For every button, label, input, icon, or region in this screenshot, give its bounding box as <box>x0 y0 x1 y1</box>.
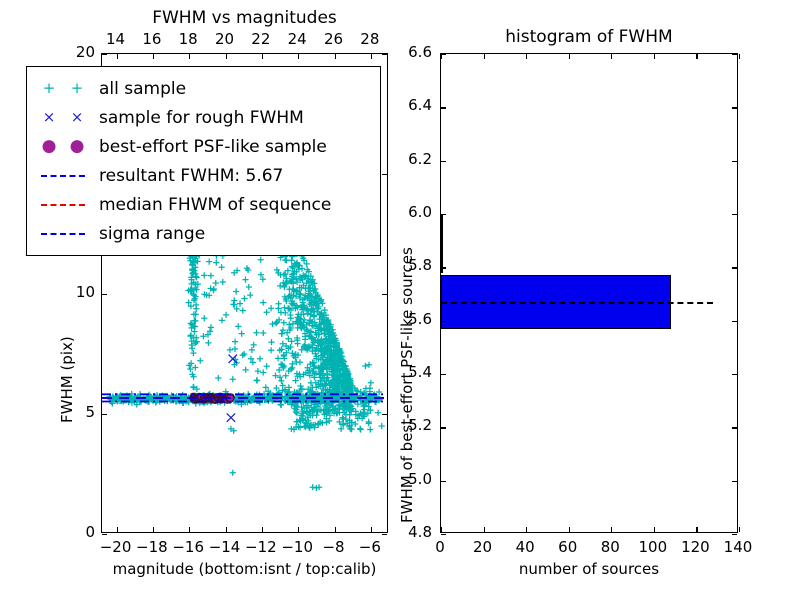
scatter-point-plus <box>268 339 274 345</box>
tick-label: 6.0 <box>388 203 432 221</box>
left-plot-xlabel: magnitude (bottom:isnt / top:calib) <box>101 560 388 578</box>
scatter-point-plus <box>366 362 372 368</box>
scatter-point-plus <box>220 279 226 285</box>
legend-item[interactable]: ++all sample <box>27 74 380 103</box>
x-tick <box>654 54 655 59</box>
y-tick <box>732 321 737 322</box>
tick-label: 100 <box>631 538 675 556</box>
scatter-point-plus <box>205 340 211 346</box>
x-tick <box>569 54 570 59</box>
y-tick <box>102 54 107 55</box>
scatter-point-plus <box>227 347 233 353</box>
legend-label: best-effort PSF-like sample <box>99 137 327 157</box>
dot-marker-icon: ● <box>42 138 57 155</box>
scatter-point-plus <box>191 328 197 334</box>
scatter-point-plus <box>279 331 285 337</box>
scatter-point-plus <box>302 333 308 339</box>
scatter-point-plus <box>367 426 373 432</box>
scatter-point-plus <box>201 315 207 321</box>
y-tick <box>732 214 737 215</box>
tick-label: 140 <box>716 538 760 556</box>
scatter-point-plus <box>233 288 239 294</box>
tick-label: 80 <box>588 538 632 556</box>
legend-marker <box>27 233 99 235</box>
right-plot-title: histogram of FWHM <box>440 27 738 47</box>
x-tick-top <box>298 54 299 59</box>
x-tick <box>335 527 336 532</box>
x-tick <box>569 527 570 532</box>
scatter-point-plus <box>239 331 245 337</box>
scatter-point-plus <box>223 312 229 318</box>
x-tick <box>189 527 190 532</box>
y-tick <box>382 534 387 535</box>
tick-label: 0 <box>53 523 95 541</box>
histogram-axes[interactable] <box>440 53 738 533</box>
tick-label: 120 <box>673 538 717 556</box>
scatter-point-plus <box>288 315 294 321</box>
x-tick <box>696 527 697 532</box>
tick-label: 6.2 <box>388 150 432 168</box>
scatter-point-plus <box>366 420 372 426</box>
x-tick <box>654 527 655 532</box>
tick-label: 20 <box>53 43 95 61</box>
y-tick <box>732 374 737 375</box>
legend-item[interactable]: resultant FWHM: 5.67 <box>27 161 380 190</box>
scatter-point-plus <box>213 259 219 265</box>
dashed-blue-line-icon <box>41 175 85 177</box>
x-tick <box>526 527 527 532</box>
scatter-point-plus <box>268 347 274 353</box>
tick-label: 24 <box>277 30 317 48</box>
scatter-point-plus <box>208 273 214 279</box>
y-tick <box>441 321 446 322</box>
scatter-point-plus <box>297 383 303 389</box>
scatter-point-plus <box>268 305 274 311</box>
scatter-point-plus <box>240 307 246 313</box>
legend-marker <box>27 204 99 206</box>
tick-label: 6.6 <box>388 43 432 61</box>
y-tick <box>441 534 446 535</box>
y-tick <box>382 294 387 295</box>
figure-canvas: FWHM vs magnitudes 1416182022242628 −20−… <box>0 0 800 600</box>
tick-label: 60 <box>546 538 590 556</box>
y-tick <box>382 174 387 175</box>
x-tick <box>696 54 697 59</box>
y-tick <box>732 54 737 55</box>
scatter-point-plus <box>258 257 264 263</box>
tick-label: 18 <box>168 30 208 48</box>
histogram-xlabel: number of sources <box>440 560 738 578</box>
scatter-point-plus <box>243 367 249 373</box>
y-tick <box>441 54 446 55</box>
x-tick <box>739 527 740 532</box>
y-tick <box>441 161 446 162</box>
legend-box[interactable]: ++all sample××sample for rough FWHM●●bes… <box>26 66 381 256</box>
scatter-point-plus <box>208 324 214 330</box>
scatter-point-plus <box>288 257 294 263</box>
scatter-point-plus <box>241 351 247 357</box>
legend-marker: ●● <box>27 138 99 155</box>
legend-label: sample for rough FWHM <box>99 108 304 128</box>
scatter-point-cross <box>227 413 235 421</box>
legend-marker: ×× <box>27 110 99 125</box>
scatter-point-plus <box>206 259 212 265</box>
scatter-point-plus <box>201 272 207 278</box>
tick-label: 6.4 <box>388 96 432 114</box>
left-plot-ylabel: FWHM (pix) <box>58 336 76 423</box>
x-tick-top <box>371 54 372 59</box>
scatter-point-plus <box>281 320 287 326</box>
dot-marker-icon: ● <box>70 138 85 155</box>
x-tick <box>117 527 118 532</box>
y-tick <box>441 427 446 428</box>
x-tick-top <box>189 54 190 59</box>
y-tick <box>732 481 737 482</box>
tick-label: 10 <box>53 283 95 301</box>
scatter-point-plus <box>275 355 281 361</box>
y-tick <box>732 534 737 535</box>
scatter-point-plus <box>230 301 236 307</box>
scatter-point-plus <box>264 309 270 315</box>
cross-marker-icon: × <box>71 110 84 125</box>
scatter-point-plus <box>278 402 284 408</box>
scatter-point-plus <box>264 363 270 369</box>
histogram-bar[interactable] <box>441 214 443 273</box>
x-tick <box>739 54 740 59</box>
legend-marker: ++ <box>27 81 99 96</box>
scatter-point-plus <box>197 358 203 364</box>
dashed-red-line-icon <box>41 204 85 206</box>
tick-label: 20 <box>205 30 245 48</box>
x-tick <box>298 527 299 532</box>
tick-label: 4.8 <box>388 523 432 541</box>
scatter-point-plus <box>276 301 282 307</box>
scatter-point-plus <box>283 373 289 379</box>
scatter-point-plus <box>230 376 236 382</box>
scatter-point-plus <box>260 299 266 305</box>
legend-marker <box>27 175 99 177</box>
scatter-point-plus <box>308 380 314 386</box>
scatter-point-plus <box>379 423 385 429</box>
x-tick <box>153 527 154 532</box>
x-tick <box>484 54 485 59</box>
x-tick <box>441 527 442 532</box>
y-tick <box>732 161 737 162</box>
scatter-point-plus <box>362 363 368 369</box>
scatter-point-plus <box>255 368 261 374</box>
left-plot-title: FWHM vs magnitudes <box>101 8 388 28</box>
legend-label: all sample <box>99 79 186 99</box>
scatter-point-plus <box>254 377 260 383</box>
legend-item[interactable]: ●●best-effort PSF-like sample <box>27 132 380 161</box>
x-tick <box>226 527 227 532</box>
scatter-point-plus <box>322 307 328 313</box>
x-tick-top <box>335 54 336 59</box>
scatter-point-plus <box>241 295 247 301</box>
scatter-point-plus <box>247 292 253 298</box>
dashdot-blue-line-icon <box>41 233 85 235</box>
scatter-point-plus <box>237 301 243 307</box>
y-tick <box>732 427 737 428</box>
x-tick-top <box>262 54 263 59</box>
scatter-point-plus <box>368 380 374 386</box>
scatter-point-plus <box>232 339 238 345</box>
y-tick <box>441 107 446 108</box>
tick-label: 28 <box>350 30 390 48</box>
scatter-point-plus <box>211 286 217 292</box>
scatter-point-plus <box>242 277 248 283</box>
tick-label: 22 <box>241 30 281 48</box>
scatter-point-plus <box>278 378 284 384</box>
scatter-point-plus <box>253 330 259 336</box>
x-tick <box>484 527 485 532</box>
scatter-point-plus <box>190 350 196 356</box>
plus-marker-icon: + <box>71 81 84 96</box>
scatter-point-plus <box>257 356 263 362</box>
y-tick <box>382 54 387 55</box>
cross-marker-icon: × <box>43 110 56 125</box>
y-tick <box>102 294 107 295</box>
legend-item[interactable]: ××sample for rough FWHM <box>27 103 380 132</box>
y-tick <box>732 107 737 108</box>
y-tick <box>732 267 737 268</box>
x-tick-top <box>226 54 227 59</box>
x-tick-top <box>117 54 118 59</box>
plus-marker-icon: + <box>43 81 56 96</box>
y-tick <box>102 414 107 415</box>
legend-label: resultant FWHM: 5.67 <box>99 166 283 186</box>
scatter-point-plus <box>274 267 280 273</box>
scatter-point-plus <box>230 470 236 476</box>
scatter-point-plus <box>260 330 266 336</box>
scatter-point-plus <box>235 323 241 329</box>
scatter-point-plus <box>246 284 252 290</box>
scatter-point-plus <box>215 375 221 381</box>
scatter-point-plus <box>281 305 287 311</box>
legend-item[interactable]: sigma range <box>27 219 380 248</box>
scatter-point-plus <box>260 369 266 375</box>
x-tick-top <box>153 54 154 59</box>
y-tick <box>441 481 446 482</box>
x-tick <box>611 527 612 532</box>
scatter-point-plus <box>273 320 279 326</box>
tick-label: 20 <box>461 538 505 556</box>
y-tick <box>382 414 387 415</box>
tick-label: 14 <box>96 30 136 48</box>
scatter-point-plus <box>375 410 381 416</box>
y-tick <box>441 374 446 375</box>
tick-label: 26 <box>314 30 354 48</box>
legend-item[interactable]: median FHWM of sequence <box>27 190 380 219</box>
x-tick <box>526 54 527 59</box>
x-tick <box>371 527 372 532</box>
histogram-ylabel: FWHM of best-effort PSF-like sources <box>398 247 416 523</box>
legend-label: sigma range <box>99 224 205 244</box>
scatter-point-plus <box>219 317 225 323</box>
tick-label: −6 <box>348 538 392 556</box>
scatter-point-plus <box>358 426 364 432</box>
tick-label: 40 <box>503 538 547 556</box>
y-tick <box>441 214 446 215</box>
scatter-point-plus <box>232 346 238 352</box>
x-tick <box>262 527 263 532</box>
y-tick <box>441 267 446 268</box>
scatter-point-plus <box>213 280 219 286</box>
tick-label: 16 <box>132 30 172 48</box>
scatter-point-plus <box>219 264 225 270</box>
scatter-point-plus <box>189 345 195 351</box>
scatter-point-plus <box>231 297 237 303</box>
scatter-point-plus <box>310 484 316 490</box>
histogram-median-line <box>441 302 713 304</box>
x-tick <box>611 54 612 59</box>
y-tick <box>102 534 107 535</box>
scatter-point-plus <box>240 352 246 358</box>
legend-label: median FHWM of sequence <box>99 195 331 215</box>
